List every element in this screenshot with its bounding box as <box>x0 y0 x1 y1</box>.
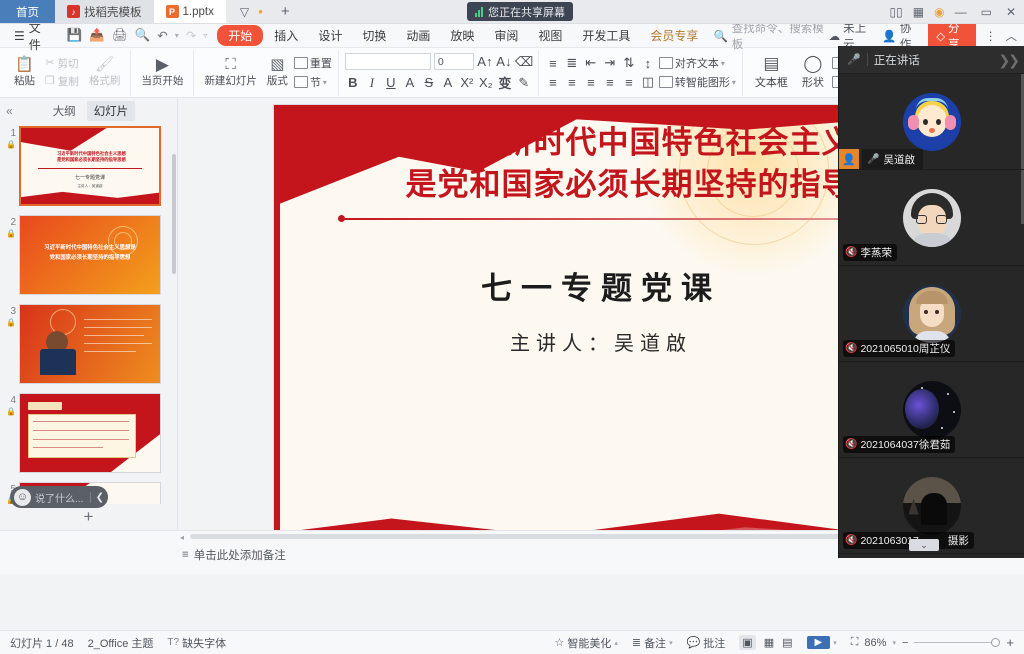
share-icon: ◇ <box>936 29 945 43</box>
decorative-wave <box>274 495 929 530</box>
zoom-out-button[interactable]: − <box>902 637 908 649</box>
start-slideshow-button[interactable]: ▶ <box>807 636 831 649</box>
participant-name-badge: 🔇 李蒸荣 <box>843 244 897 261</box>
chevron-down-icon: ▾ <box>323 78 327 87</box>
chevron-down-icon: ▾ <box>721 59 725 68</box>
thumb-presenter: 主讲人：吴道啟 <box>21 184 159 189</box>
section-icon <box>294 76 308 88</box>
save-as-cloud-icon[interactable]: 📤 <box>89 28 105 43</box>
theme-label[interactable]: 2_Office 主题 <box>88 635 154 651</box>
tab-presentation-file[interactable]: P 1.pptx <box>154 0 226 23</box>
participant-name-suffix: 摄影 <box>948 533 969 548</box>
tab-slideshow[interactable]: 放映 <box>441 25 483 46</box>
account-avatar-icon[interactable]: ◉ <box>934 5 944 19</box>
wps-presentation-window: 首页 ♪ 找稻壳模板 P 1.pptx ▽ ● + 您正在共享屏幕 ▯▯ ▦ ◉… <box>0 0 1024 654</box>
ribbon-group-font: 0 A↑ A↓ ⌫ B I U A S A X² X₂ 变 ✎ <box>339 50 539 96</box>
speaking-status-label: 正在讲话 <box>874 52 920 68</box>
video-conference-panel: 🎤 正在讲话 ❯❯ 👤 🎤 吴道啟 <box>838 46 1024 558</box>
zoom-level-label[interactable]: 86% <box>864 637 886 649</box>
paste-label: 粘贴 <box>14 73 35 88</box>
redo-icon[interactable]: ↷ <box>186 28 196 43</box>
play-circle-icon: ▶ <box>156 57 169 72</box>
thumbnail-list[interactable]: 1🔒 习近平新时代中国特色社会主义思想 是党和国家必须长期坚持的指导思想 七一专… <box>0 124 177 504</box>
participant-name-badge: 🔇 2021065010周芷仪 <box>843 340 955 357</box>
copy-button[interactable]: ❐ 复制 <box>41 74 83 89</box>
font-warning[interactable]: T? 缺失字体 <box>167 635 226 651</box>
mic-muted-icon: 🔇 <box>845 247 857 258</box>
share-signal-icon <box>475 7 483 17</box>
new-slide-icon: ⛶ <box>225 57 236 72</box>
expand-chevron-icon[interactable]: ⌄ <box>909 539 939 551</box>
chevron-down-icon[interactable]: ▾ <box>833 639 837 647</box>
split-view-icon[interactable]: ▯▯ <box>890 5 903 19</box>
section-button[interactable]: 节 ▾ <box>294 74 332 90</box>
missing-font-icon: T? <box>167 637 179 648</box>
mic-icon[interactable]: 🎤 <box>847 53 861 66</box>
thumb-number: 4 <box>10 395 16 406</box>
notes-toggle-button[interactable]: ≣ 备注 ▾ <box>632 635 673 651</box>
align-left-icon[interactable]: ≡ <box>545 75 561 90</box>
tab-animation[interactable]: 动画 <box>397 25 439 46</box>
align-text-icon <box>659 57 673 69</box>
video-panel-header: 🎤 正在讲话 ❯❯ <box>839 46 1024 74</box>
print-preview-icon[interactable]: 🔍 <box>135 28 151 43</box>
list-item[interactable]: 4🔒 <box>0 393 177 473</box>
thumb-number: 1 <box>10 128 16 139</box>
thumb-number: 2 <box>10 217 16 228</box>
notes-placeholder[interactable]: ≡ 单击此处添加备注 <box>182 547 286 563</box>
participant-name-badge: 👤 🎤 吴道啟 <box>839 149 923 169</box>
tab-outline[interactable]: 大纲 <box>46 101 83 121</box>
floating-chat-bubble[interactable]: ☺ 说了什么... ❮ <box>10 486 108 508</box>
list-item[interactable]: 3🔒 <box>0 304 177 384</box>
maximize-button[interactable]: ▭ <box>981 5 992 19</box>
chevron-down-icon: ▾ <box>732 78 736 87</box>
participant-name: 吴道啟 <box>883 152 915 167</box>
notes-resize-handle[interactable]: ◂ <box>180 533 184 542</box>
new-tab-button[interactable]: + <box>272 3 299 20</box>
tab-docer-template[interactable]: ♪ 找稻壳模板 <box>55 0 154 23</box>
line-spacing-icon[interactable]: ↕ <box>640 56 656 71</box>
mic-muted-icon: 🔇 <box>845 535 857 546</box>
participant-tile[interactable]: 🔇 2021064037徐君茹 <box>839 362 1024 458</box>
command-search[interactable]: 🔍 查找命令、搜索模板 <box>713 20 828 52</box>
lock-icon: 🔒 <box>2 139 16 150</box>
shape-icon: ◯ <box>803 55 822 72</box>
menu-bar: ☰ 文件 💾 📤 🖨 🔍 ↶ ▾ ↷ ▿ 开始 插入 设计 切换 动画 放映 审… <box>0 24 1024 48</box>
superscript-button[interactable]: X² <box>459 75 475 90</box>
character-spacing-button[interactable]: A <box>440 75 456 90</box>
reset-icon <box>294 57 308 69</box>
comment-button[interactable]: 💬 批注 <box>687 635 726 651</box>
normal-view-icon[interactable]: ▣ <box>739 635 755 650</box>
mic-muted-icon: 🔇 <box>845 343 857 354</box>
format-painter-button[interactable]: 🖌 格式刷 <box>85 57 125 88</box>
layout-label: 版式 <box>267 73 288 88</box>
tab-home-label: 首页 <box>16 4 39 20</box>
reset-button[interactable]: 重置 <box>294 55 332 71</box>
font-warning-label: 缺失字体 <box>182 635 226 651</box>
ribbon-group-slides: ⛶ 新建幻灯片 ▧ 版式 重置 节 ▾ <box>194 50 339 96</box>
lock-icon: 🔒 <box>2 228 16 239</box>
cloud-icon: ☁ <box>829 29 841 43</box>
notes-btn-label: 备注 <box>644 635 666 651</box>
shape-label: 形状 <box>802 74 824 90</box>
tab-developer[interactable]: 开发工具 <box>573 25 639 46</box>
more-options-icon[interactable]: ⋮ <box>985 29 997 43</box>
beautify-label: 智能美化 <box>567 635 611 651</box>
clear-format-icon[interactable]: ⌫ <box>515 54 531 70</box>
customize-qat-icon[interactable]: ▿ <box>203 31 207 40</box>
undo-icon[interactable]: ↶ <box>157 28 167 43</box>
align-text-label: 对齐文本 <box>675 55 719 71</box>
feedback-icon[interactable]: ▽ <box>240 5 249 19</box>
minimize-button[interactable]: — <box>955 5 967 19</box>
tab-insert[interactable]: 插入 <box>265 25 307 46</box>
text-direction-icon[interactable]: ⇅ <box>621 55 637 71</box>
new-slide-label: 新建幻灯片 <box>204 73 257 88</box>
participant-list[interactable]: 👤 🎤 吴道啟 🔇 李蒸荣 <box>839 74 1024 558</box>
beautify-button[interactable]: ☆ 智能美化 ▴ <box>554 635 617 651</box>
textbox-icon: ▤ <box>763 55 779 72</box>
participant-name-badge: 🔇 2021064037徐君茹 <box>843 436 955 453</box>
mic-on-icon: 🎤 <box>867 154 879 165</box>
slide-sorter-icon[interactable]: ▦ <box>764 636 774 649</box>
avatar <box>903 93 961 151</box>
participant-tile[interactable]: 👤 🎤 吴道啟 <box>839 74 1024 170</box>
format-painter-icon: 🖌 <box>95 57 114 72</box>
strikethrough-button[interactable]: S <box>421 75 437 90</box>
grid-apps-icon[interactable]: ▦ <box>913 5 924 19</box>
align-text-button[interactable]: 对齐文本 ▾ <box>659 55 725 71</box>
align-right-icon[interactable]: ≡ <box>583 75 599 90</box>
slide-thumbnail-4[interactable] <box>19 393 161 473</box>
close-button[interactable]: ✕ <box>1006 5 1016 19</box>
tab-review[interactable]: 审阅 <box>485 25 527 46</box>
tab-transition[interactable]: 切换 <box>353 25 395 46</box>
font-name-input[interactable] <box>345 53 431 70</box>
decorative-left-strip <box>274 105 280 530</box>
slide-thumbnail-1[interactable]: 习近平新时代中国特色社会主义思想 是党和国家必须长期坚持的指导思想 七一专题党课… <box>19 126 161 206</box>
paste-button[interactable]: 📋 粘贴 <box>10 57 39 88</box>
undo-dropdown-icon[interactable]: ▾ <box>175 31 179 40</box>
convert-to-smartart-button[interactable]: 转智能图形 ▾ <box>659 74 736 90</box>
reading-view-icon[interactable]: ▤ <box>782 636 792 649</box>
slide-thumbnail-panel: « 大纲 幻灯片 1🔒 习近平新时代中国特色社会主义思想 是党 <box>0 98 178 530</box>
columns-icon[interactable]: ◫ <box>640 74 656 90</box>
ribbon-group-clipboard: 📋 粘贴 ✂ 剪切 ❐ 复制 🖌 格式刷 <box>4 50 131 96</box>
bold-button[interactable]: B <box>345 75 361 90</box>
distribute-icon[interactable]: ≡ <box>621 75 637 90</box>
decrease-font-size-icon[interactable]: A↓ <box>496 54 512 69</box>
zoom-slider[interactable] <box>914 642 1000 643</box>
avatar <box>903 189 961 247</box>
copy-icon: ❐ <box>45 74 55 89</box>
new-slide-button[interactable]: ⛶ 新建幻灯片 <box>200 57 261 88</box>
ribbon-group-paragraph: ≡ ≣ ⇤ ⇥ ⇅ ↕ 对齐文本 ▾ ≡ ≡ ≡ ≡ <box>539 50 743 96</box>
search-icon: 🔍 <box>713 29 727 43</box>
participant-tile[interactable]: 🔇 2021063017 摄影 ⌄ <box>839 458 1024 554</box>
text-effect-button[interactable]: 变 <box>497 73 513 92</box>
fit-slide-icon[interactable]: ⛶ <box>851 636 859 649</box>
numbering-icon[interactable]: ≣ <box>564 55 580 71</box>
speaking-indicator-icon: 👤 <box>839 149 859 169</box>
slide-presenter[interactable]: 主讲人：吴道啟 <box>274 327 929 356</box>
section-label: 节 <box>310 74 321 90</box>
participant-name: 2021064037徐君茹 <box>860 437 950 452</box>
reset-label: 重置 <box>310 55 332 71</box>
thumb-title: 习近平新时代中国特色社会主义思想是 党和国家必须长期坚持的指导思想 <box>31 244 149 263</box>
window-controls: ▯▯ ▦ ◉ — ▭ ✕ <box>890 0 1024 23</box>
layout-button[interactable]: ▧ 版式 <box>263 57 292 88</box>
avatar <box>903 285 961 343</box>
tab-file-label: 1.pptx <box>183 6 214 18</box>
thumb-title: 习近平新时代中国特色社会主义思想 是党和国家必须长期坚持的指导思想 <box>32 151 151 164</box>
tab-view[interactable]: 视图 <box>529 25 571 46</box>
chat-collapse-icon[interactable]: ❮ <box>90 492 104 503</box>
italic-button[interactable]: I <box>364 75 380 91</box>
avatar <box>903 381 961 439</box>
hamburger-icon: ☰ <box>14 29 25 43</box>
docer-icon: ♪ <box>67 5 80 18</box>
list-item[interactable]: 1🔒 习近平新时代中国特色社会主义思想 是党和国家必须长期坚持的指导思想 七一专… <box>0 126 177 206</box>
bullets-icon[interactable]: ≡ <box>545 56 561 71</box>
slide-subtitle[interactable]: 七一专题党课 <box>274 263 929 308</box>
comment-btn-label: 批注 <box>703 635 725 651</box>
decrease-indent-icon[interactable]: ⇤ <box>583 55 599 71</box>
slide-canvas[interactable]: 习近平新时代中国特色社会主义思想 是党和国家必须长期坚持的指导思想 七一专题党课… <box>274 105 929 530</box>
cut-button[interactable]: ✂ 剪切 <box>41 56 83 71</box>
chevron-down-icon: ▾ <box>669 639 673 647</box>
save-icon[interactable]: 💾 <box>67 28 83 43</box>
comment-icon: 💬 <box>687 636 701 649</box>
ribbon-tabs: 开始 插入 设计 切换 动画 放映 审阅 视图 开发工具 会员专享 <box>217 25 707 46</box>
share-notice-label: 您正在共享屏幕 <box>488 4 565 20</box>
people-icon: 👤 <box>882 29 896 43</box>
participant-tile[interactable]: 🔇 2021065010周芷仪 <box>839 266 1024 362</box>
collapse-ribbon-icon[interactable]: ︿ <box>1006 28 1018 44</box>
justify-icon[interactable]: ≡ <box>602 75 618 90</box>
copy-label: 复制 <box>58 74 79 89</box>
slide-thumbnail-2[interactable]: 习近平新时代中国特色社会主义思想是 党和国家必须长期坚持的指导思想 <box>19 215 161 295</box>
tab-slides[interactable]: 幻灯片 <box>87 101 136 121</box>
format-painter-label: 格式刷 <box>89 73 121 88</box>
list-item[interactable]: 2🔒 习近平新时代中国特色社会主义思想是 党和国家必须长期坚持的指导思想 <box>0 215 177 295</box>
underline-button[interactable]: U <box>383 75 399 90</box>
slide-panel-header: « 大纲 幻灯片 <box>0 98 177 124</box>
magic-wand-icon: ☆ <box>554 636 564 649</box>
search-placeholder-label: 查找命令、搜索模板 <box>732 20 829 52</box>
tab-start[interactable]: 开始 <box>217 25 263 46</box>
thumb-number: 3 <box>10 306 16 317</box>
shape-button[interactable]: ◯ 形状 <box>796 55 830 90</box>
notes-placeholder-label: 单击此处添加备注 <box>194 547 286 563</box>
start-from-current-button[interactable]: ▶ 当页开始 <box>137 57 187 88</box>
zoom-in-button[interactable]: + <box>1006 635 1014 650</box>
font-size-input[interactable]: 0 <box>434 53 474 70</box>
notification-dot-icon[interactable]: ● <box>258 7 263 16</box>
start-from-current-label: 当页开始 <box>141 73 183 88</box>
cut-icon: ✂ <box>45 56 54 71</box>
tab-home[interactable]: 首页 <box>0 0 55 23</box>
chevron-down-icon[interactable]: ▾ <box>892 639 896 647</box>
chevron-up-icon: ▴ <box>614 639 618 647</box>
collapse-panel-icon[interactable]: « <box>6 104 13 118</box>
mic-muted-icon: 🔇 <box>845 439 857 450</box>
increase-font-size-icon[interactable]: A↑ <box>477 54 493 69</box>
pptx-icon: P <box>166 5 179 18</box>
screen-share-notice: 您正在共享屏幕 <box>467 2 573 21</box>
smartart-icon <box>659 76 673 88</box>
text-shadow-button[interactable]: A <box>402 75 418 90</box>
paste-icon: 📋 <box>15 57 34 72</box>
participant-name: 2021065010周芷仪 <box>860 341 950 356</box>
cut-label: 剪切 <box>58 56 79 71</box>
tab-member-exclusive[interactable]: 会员专享 <box>641 25 707 46</box>
print-icon[interactable]: 🖨 <box>112 28 128 43</box>
avatar <box>903 477 961 535</box>
align-center-icon[interactable]: ≡ <box>564 75 580 90</box>
participant-tile[interactable]: 🔇 李蒸荣 <box>839 170 1024 266</box>
subscript-button[interactable]: X₂ <box>478 75 494 90</box>
lock-icon: 🔒 <box>2 317 16 328</box>
thumbnail-scrollbar[interactable] <box>172 154 176 274</box>
slide-thumbnail-3[interactable] <box>19 304 161 384</box>
tab-bar: 首页 ♪ 找稻壳模板 P 1.pptx ▽ ● + 您正在共享屏幕 ▯▯ ▦ ◉… <box>0 0 1024 24</box>
tab-docer-label: 找稻壳模板 <box>84 4 142 20</box>
highlight-color-button[interactable]: ✎ <box>516 75 532 91</box>
layout-icon: ▧ <box>270 57 284 72</box>
tab-design[interactable]: 设计 <box>309 25 351 46</box>
smartart-label: 转智能图形 <box>675 74 730 90</box>
emoji-face-icon: ☺ <box>14 489 31 506</box>
quick-access-toolbar: 💾 📤 🖨 🔍 ↶ ▾ ↷ ▿ <box>59 28 216 43</box>
ribbon-group-slideshow: ▶ 当页开始 <box>131 50 194 96</box>
lock-icon: 🔒 <box>2 406 16 417</box>
textbox-button[interactable]: ▤ 文本框 <box>749 55 794 90</box>
status-bar: 幻灯片 1 / 48 2_Office 主题 T? 缺失字体 ☆ 智能美化 ▴ … <box>0 630 1024 654</box>
slide-count-label: 幻灯片 1 / 48 <box>10 635 74 651</box>
notes-icon: ≡ <box>182 549 189 561</box>
chevron-collapse-icon[interactable]: ❯❯ <box>999 52 1018 69</box>
thumb-subtitle: 七一专题党课 <box>21 174 159 181</box>
textbox-label: 文本框 <box>755 74 788 90</box>
participant-name: 李蒸荣 <box>860 245 892 260</box>
chat-bubble-text: 说了什么... <box>35 490 86 505</box>
notes-icon: ≣ <box>632 636 641 649</box>
increase-indent-icon[interactable]: ⇥ <box>602 55 618 71</box>
zoom-slider-handle[interactable] <box>991 638 1000 647</box>
